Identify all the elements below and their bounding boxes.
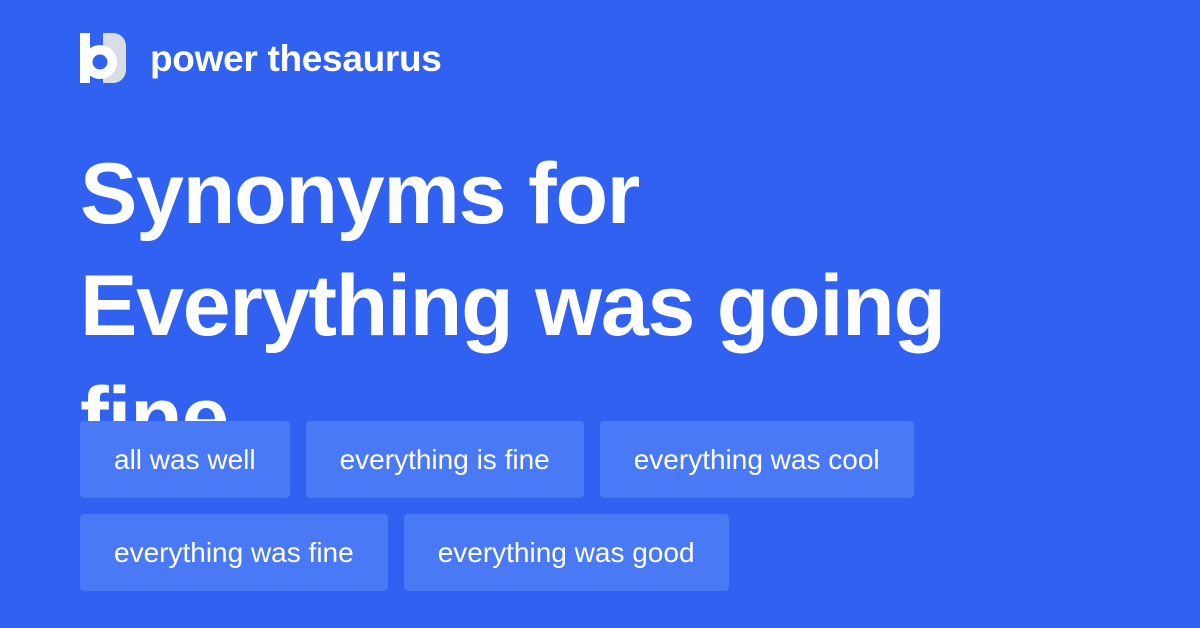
synonym-chip-list: all was well everything is fine everythi… xyxy=(80,421,1120,591)
brand-name: power thesaurus xyxy=(150,40,442,77)
synonym-chip[interactable]: everything was fine xyxy=(80,514,388,591)
open-graph-card: power thesaurus Synonyms for Everything … xyxy=(0,0,1200,628)
synonym-chip[interactable]: everything is fine xyxy=(306,421,584,498)
power-thesaurus-b-logo-icon xyxy=(80,33,126,83)
synonym-chip[interactable]: all was well xyxy=(80,421,290,498)
brand-header: power thesaurus xyxy=(80,30,442,86)
synonym-chip[interactable]: everything was good xyxy=(404,514,729,591)
synonym-chip[interactable]: everything was cool xyxy=(600,421,914,498)
